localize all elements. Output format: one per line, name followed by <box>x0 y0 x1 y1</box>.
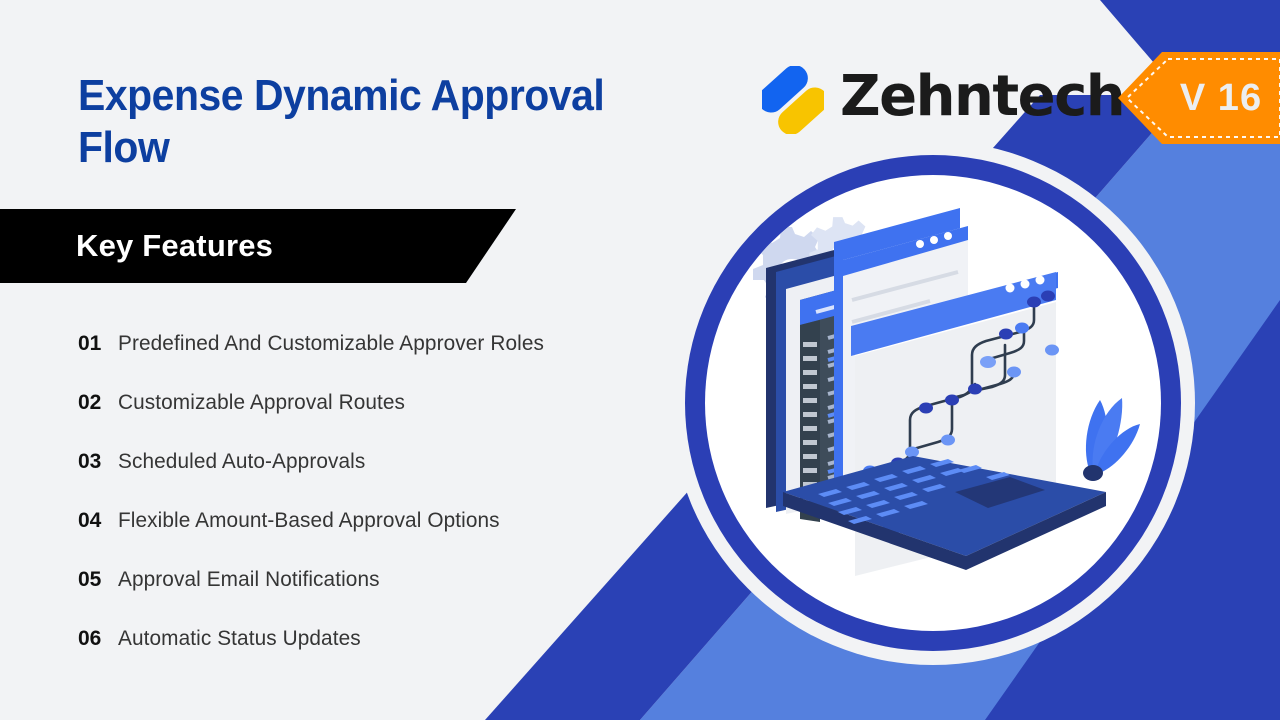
key-features-banner: Key Features <box>0 209 516 283</box>
feature-list: 01 Predefined And Customizable Approver … <box>78 332 688 686</box>
feature-number: 01 <box>78 332 118 356</box>
feature-number: 05 <box>78 568 118 592</box>
version-badge: V 16 <box>1118 52 1280 144</box>
feature-label: Flexible Amount-Based Approval Options <box>118 509 500 533</box>
feature-number: 04 <box>78 509 118 533</box>
content-column: Expense Dynamic Approval Flow Key Featur… <box>0 0 700 720</box>
zehntech-capsules-logo-icon <box>762 66 824 134</box>
leaf-decoration-icon <box>1083 398 1140 481</box>
list-item: 02 Customizable Approval Routes <box>78 391 688 450</box>
key-features-label: Key Features <box>76 228 273 264</box>
list-item: 06 Automatic Status Updates <box>78 627 688 686</box>
feature-label: Scheduled Auto-Approvals <box>118 450 365 474</box>
list-item: 01 Predefined And Customizable Approver … <box>78 332 688 391</box>
slide-canvas: Expense Dynamic Approval Flow Key Featur… <box>0 0 1280 720</box>
feature-label: Customizable Approval Routes <box>118 391 405 415</box>
feature-number: 03 <box>78 450 118 474</box>
feature-label: Approval Email Notifications <box>118 568 380 592</box>
brand-wordmark: Zehntech <box>840 58 1124 136</box>
feature-number: 06 <box>78 627 118 651</box>
brand-lockup: Zehntech <box>762 60 1072 138</box>
feature-number: 02 <box>78 391 118 415</box>
feature-label: Automatic Status Updates <box>118 627 361 651</box>
page-title: Expense Dynamic Approval Flow <box>78 70 655 174</box>
list-item: 03 Scheduled Auto-Approvals <box>78 450 688 509</box>
list-item: 05 Approval Email Notifications <box>78 568 688 627</box>
list-item: 04 Flexible Amount-Based Approval Option… <box>78 509 688 568</box>
version-label: V 16 <box>1162 52 1280 144</box>
feature-label: Predefined And Customizable Approver Rol… <box>118 332 544 356</box>
